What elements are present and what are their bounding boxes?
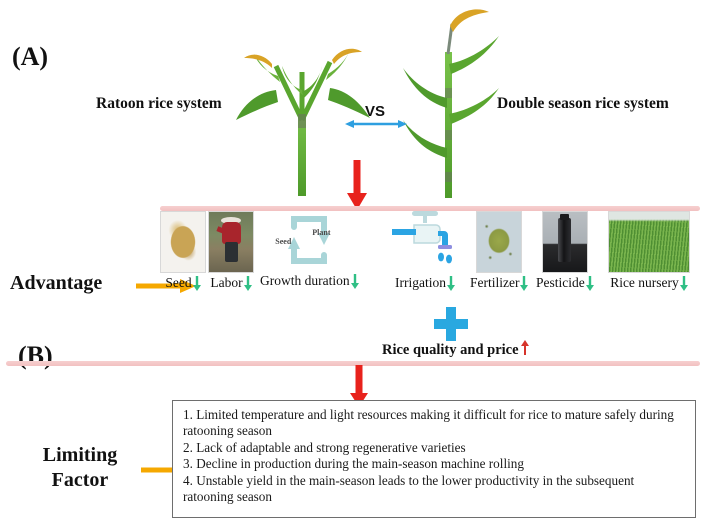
advantage-caption-labor: Labor [210,275,251,291]
advantage-caption-rice-nursery: Rice nursery [610,275,688,291]
red-up-arrow-icon [521,340,529,355]
limiting-factor-2: 2. Lack of adaptable and strong regenera… [183,440,685,456]
limiting-factor-label: Limiting Factor [24,443,136,493]
double-season-system-title: Double season rice system [497,95,669,113]
green-down-arrow-icon [680,276,688,291]
fertilizer-granules-photo [476,211,522,273]
advantage-item-row: Seed Labor [160,211,708,303]
advantage-caption-fertilizer: Fertilizer [470,275,528,291]
limiting-factor-3: 3. Decline in production during the main… [183,456,685,472]
advantage-caption-growth-duration: Growth duration [260,273,359,289]
advantage-label-fertilizer: Fertilizer [470,275,519,291]
advantage-caption-irrigation: Irrigation [395,275,455,291]
advantage-label-irrigation: Irrigation [395,275,446,291]
panel-b-label: (B) [18,341,53,371]
red-down-arrow-icon [345,160,369,210]
blue-plus-icon [434,307,468,341]
rice-seed-photo [160,211,206,273]
rice-quality-label: Rice quality and price [382,342,519,358]
limiting-factors-box: 1. Limited temperature and light resourc… [172,400,696,518]
green-down-arrow-icon [244,276,252,291]
green-down-arrow-icon [351,274,359,289]
advantage-item-seed: Seed [160,211,206,291]
cycle-label-seed: Seed [275,237,291,246]
rice-nursery-photo [608,211,690,273]
ratoon-system-title: Ratoon rice system [96,95,222,113]
rice-quality-statement: Rice quality and price [382,340,529,359]
pesticide-bottle-photo [542,211,588,273]
advantage-label-labor: Labor [210,275,242,291]
advantage-item-labor: Labor [208,211,254,291]
green-down-arrow-icon [447,276,455,291]
limiting-factor-label-line2: Factor [52,469,109,491]
green-down-arrow-icon [586,276,594,291]
advantage-item-rice-nursery: Rice nursery [608,211,690,291]
limiting-factor-4: 4. Unstable yield in the main-season lea… [183,473,685,506]
water-tap-icon [392,207,458,273]
advantage-label-rice-nursery: Rice nursery [610,275,679,291]
double-headed-arrow-icon [345,119,407,129]
seed-plant-cycle-icon: Seed Plant [274,211,344,271]
advantage-caption-pesticide: Pesticide [536,275,594,291]
advantage-label: Advantage [10,272,102,295]
advantage-item-fertilizer: Fertilizer [470,211,528,291]
figure-canvas: (A) (B) [0,0,720,530]
advantage-label-seed: Seed [165,275,191,291]
advantage-item-growth-duration: Seed Plant Growth duration [260,211,359,289]
limiting-factor-1: 1. Limited temperature and light resourc… [183,407,685,440]
limiting-factor-label-line1: Limiting [43,444,117,466]
panel-a-label: (A) [12,42,48,72]
advantage-item-irrigation: Irrigation [392,207,458,291]
advantage-item-pesticide: Pesticide [536,211,594,291]
farm-labor-photo [208,211,254,273]
advantage-caption-seed: Seed [165,275,200,291]
green-down-arrow-icon [520,276,528,291]
advantage-label-pesticide: Pesticide [536,275,585,291]
versus-label: VS [365,103,385,120]
advantage-label-growth-duration: Growth duration [260,273,350,289]
cycle-label-plant: Plant [312,228,330,237]
green-down-arrow-icon [193,276,201,291]
